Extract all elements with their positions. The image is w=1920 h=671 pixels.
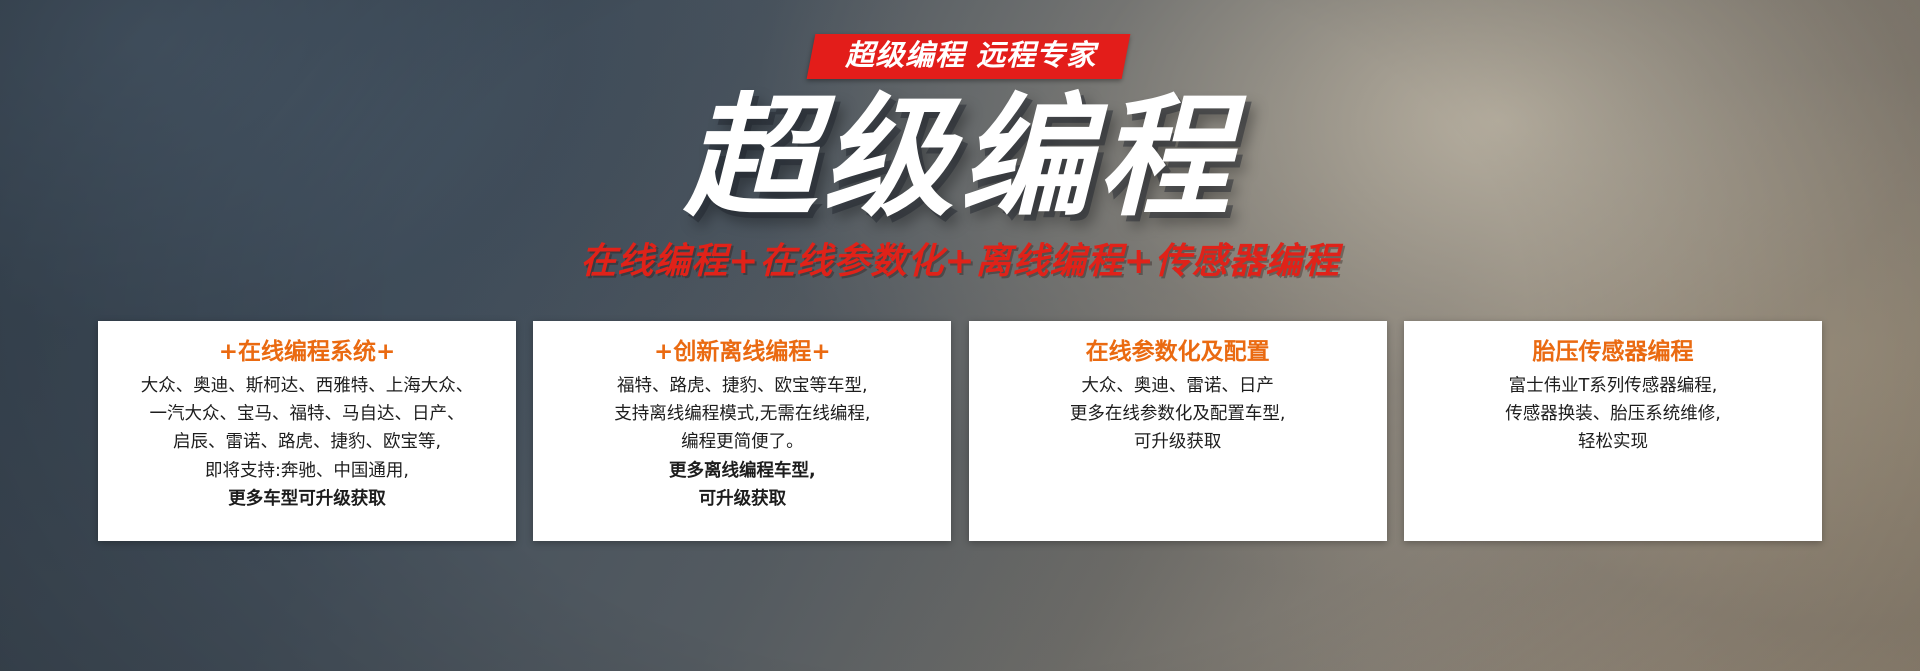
page-title: 超级编程 (0, 92, 1920, 224)
tagline-badge-label: 超级编程 远程专家 (845, 41, 1096, 70)
feature-card-tpms-sensor[interactable]: 胎压传感器编程 富士伟业T系列传感器编程, 传感器换装、胎压系统维修, 轻松实现 (1404, 321, 1822, 541)
card-line: 即将支持:奔驰、中国通用, (205, 457, 409, 485)
card-line: 编程更简便了。 (681, 428, 804, 456)
card-line: 可升级获取 (699, 485, 787, 513)
card-title: 胎压传感器编程 (1532, 338, 1693, 367)
card-title: +创新离线编程+ (654, 338, 831, 367)
card-line: 福特、路虎、捷豹、欧宝等车型, (617, 372, 868, 400)
card-line: 一汽大众、宝马、福特、马自达、日产、 (150, 400, 465, 428)
card-line: 轻松实现 (1578, 428, 1648, 456)
card-line: 更多在线参数化及配置车型, (1070, 400, 1286, 428)
feature-card-online-programming[interactable]: +在线编程系统+ 大众、奥迪、斯柯达、西雅特、上海大众、 一汽大众、宝马、福特、… (98, 321, 516, 541)
feature-card-list: +在线编程系统+ 大众、奥迪、斯柯达、西雅特、上海大众、 一汽大众、宝马、福特、… (98, 321, 1822, 541)
card-title: +在线编程系统+ (219, 338, 396, 367)
card-line: 富士伟业T系列传感器编程, (1509, 372, 1718, 400)
card-line: 更多离线编程车型, (669, 457, 816, 485)
card-line: 可升级获取 (1134, 428, 1222, 456)
card-line: 支持离线编程模式,无需在线编程, (614, 400, 870, 428)
card-title: 在线参数化及配置 (1086, 338, 1270, 367)
card-line: 大众、奥迪、雷诺、日产 (1081, 372, 1274, 400)
feature-card-parameterization[interactable]: 在线参数化及配置 大众、奥迪、雷诺、日产 更多在线参数化及配置车型, 可升级获取 (969, 321, 1387, 541)
card-line: 启辰、雷诺、路虎、捷豹、欧宝等, (173, 428, 441, 456)
card-line: 更多车型可升级获取 (228, 485, 386, 513)
page-subtitle: 在线编程+在线参数化+离线编程+传感器编程 (0, 243, 1920, 279)
card-line: 传感器换装、胎压系统维修, (1505, 400, 1721, 428)
feature-card-offline-programming[interactable]: +创新离线编程+ 福特、路虎、捷豹、欧宝等车型, 支持离线编程模式,无需在线编程… (533, 321, 951, 541)
card-line: 大众、奥迪、斯柯达、西雅特、上海大众、 (141, 372, 474, 400)
tagline-badge: 超级编程 远程专家 (807, 34, 1131, 79)
promo-banner: 超级编程 远程专家 超级编程 在线编程+在线参数化+离线编程+传感器编程 +在线… (0, 0, 1920, 671)
